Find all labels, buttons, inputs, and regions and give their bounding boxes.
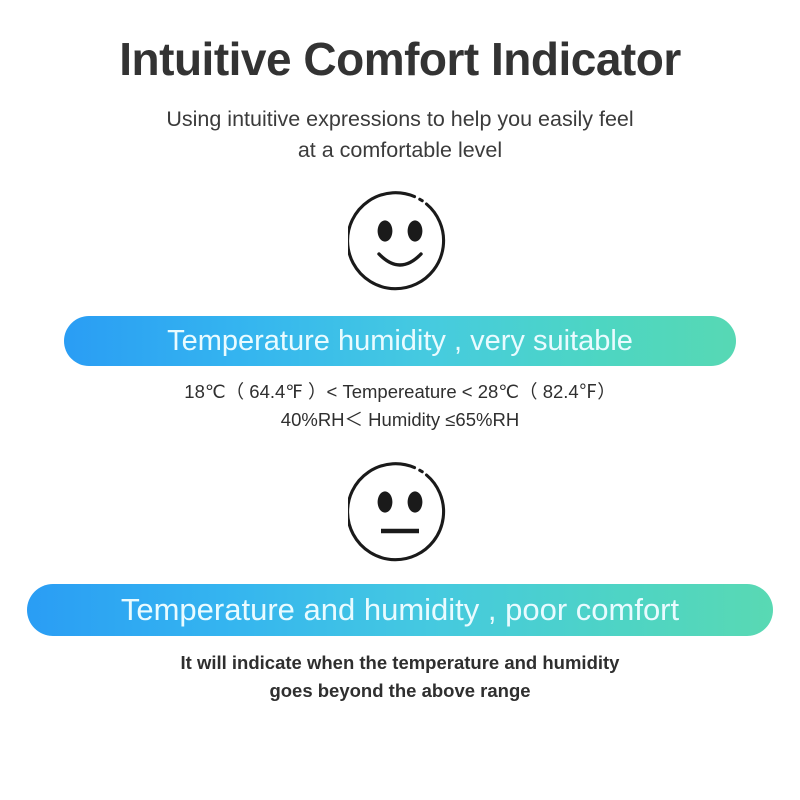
comfort-range-spec: 18℃（ 64.4℉ ）< Tempereature < 28℃（ 82.4℉）… (0, 378, 800, 434)
header: Intuitive Comfort Indicator Using intuit… (0, 0, 800, 166)
page-title: Intuitive Comfort Indicator (0, 36, 800, 82)
smiling-face-icon (348, 190, 452, 294)
comfort-status-banner-good-label: Temperature humidity , very suitable (167, 325, 633, 358)
poor-comfort-caption-line-2: goes beyond the above range (0, 677, 800, 705)
humidity-range-text: 40%RH＜ Humidity ≤65%RH (0, 406, 800, 434)
page-subtitle-line-1: Using intuitive expressions to help you … (80, 104, 720, 135)
poor-comfort-caption: It will indicate when the temperature an… (0, 649, 800, 705)
neutral-face-illustration (0, 461, 800, 565)
infographic-page: Intuitive Comfort Indicator Using intuit… (0, 0, 800, 800)
temperature-range-text: 18℃（ 64.4℉ ）< Tempereature < 28℃（ 82.4℉） (0, 378, 800, 406)
page-subtitle: Using intuitive expressions to help you … (80, 104, 720, 166)
page-subtitle-line-2: at a comfortable level (80, 135, 720, 166)
comfort-status-banner-poor-label: Temperature and humidity , poor comfort (121, 592, 679, 628)
neutral-face-icon (348, 461, 452, 565)
comfort-status-banner-poor: Temperature and humidity , poor comfort (27, 584, 773, 636)
smiling-face-illustration (0, 190, 800, 294)
poor-comfort-caption-line-1: It will indicate when the temperature an… (0, 649, 800, 677)
comfort-status-banner-good: Temperature humidity , very suitable (64, 316, 736, 366)
